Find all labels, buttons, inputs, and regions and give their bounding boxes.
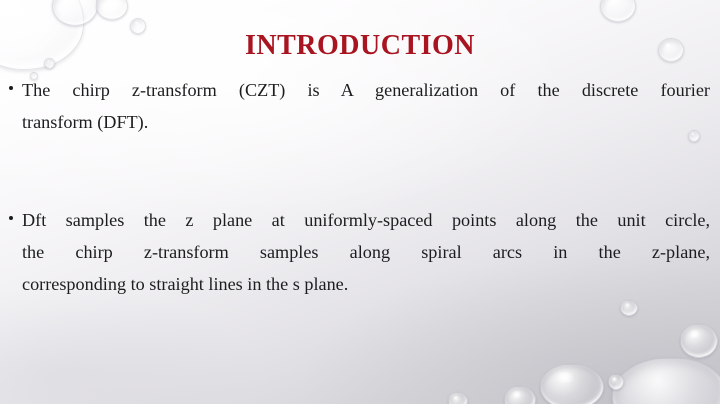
water-droplet-icon	[680, 324, 718, 358]
water-droplet-icon	[448, 392, 468, 404]
bullet-item: The chirp z-transform (CZT) is A general…	[8, 74, 710, 138]
bullet-line: The chirp z-transform (CZT) is A general…	[22, 74, 710, 106]
water-droplet-icon	[96, 0, 128, 20]
bullet-line: the chirp z-transform samples along spir…	[22, 236, 710, 268]
slide-title: INTRODUCTION	[0, 30, 720, 62]
bullet-line: transform (DFT).	[22, 106, 710, 138]
bullet-dot-icon	[9, 216, 13, 220]
water-droplet-icon	[600, 0, 636, 22]
bullet-dot-icon	[9, 86, 13, 90]
water-droplet-icon	[620, 300, 638, 316]
water-droplet-icon	[540, 364, 604, 404]
slide-body: The chirp z-transform (CZT) is A general…	[8, 74, 710, 300]
water-droplet-icon	[612, 358, 720, 404]
bullet-item: Dft samples the z plane at uniformly-spa…	[8, 204, 710, 300]
water-droplet-icon	[504, 386, 536, 404]
bullet-line: Dft samples the z plane at uniformly-spa…	[22, 204, 710, 236]
bullet-line: corresponding to straight lines in the s…	[22, 268, 710, 300]
presentation-slide: INTRODUCTION The chirp z-transform (CZT)…	[0, 0, 720, 404]
